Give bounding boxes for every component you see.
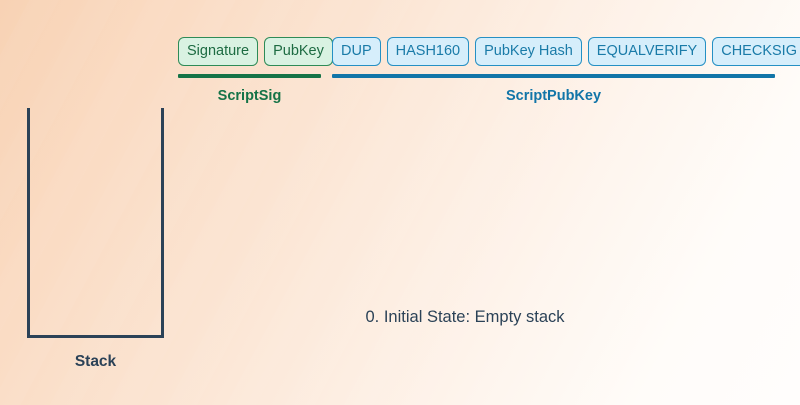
scriptpubkey-opcode-2[interactable]: PubKey Hash	[475, 37, 582, 66]
scriptsig-opcode-1[interactable]: PubKey	[264, 37, 333, 66]
diagram-canvas: SignaturePubKey ScriptSig DUPHASH160PubK…	[0, 0, 800, 405]
scriptpubkey-opcode-1[interactable]: HASH160	[387, 37, 469, 66]
stack-outline	[27, 108, 164, 338]
scriptpubkey-opcode-3[interactable]: EQUALVERIFY	[588, 37, 706, 66]
scriptpubkey-opcode-0[interactable]: DUP	[332, 37, 381, 66]
scriptsig-group-label: ScriptSig	[178, 88, 321, 104]
stack-container	[27, 108, 164, 338]
scriptpubkey-opcode-row: DUPHASH160PubKey HashEQUALVERIFYCHECKSIG	[332, 36, 800, 67]
scriptsig-opcode-0[interactable]: Signature	[178, 37, 258, 66]
scriptpubkey-group-bar	[332, 74, 775, 78]
step-caption: 0. Initial State: Empty stack	[0, 308, 800, 327]
scriptsig-group-bar	[178, 74, 321, 78]
stack-label: Stack	[27, 353, 164, 371]
scriptsig-opcode-row: SignaturePubKey	[178, 36, 333, 67]
scriptpubkey-group-label: ScriptPubKey	[332, 88, 775, 104]
scriptpubkey-opcode-4[interactable]: CHECKSIG	[712, 37, 800, 66]
